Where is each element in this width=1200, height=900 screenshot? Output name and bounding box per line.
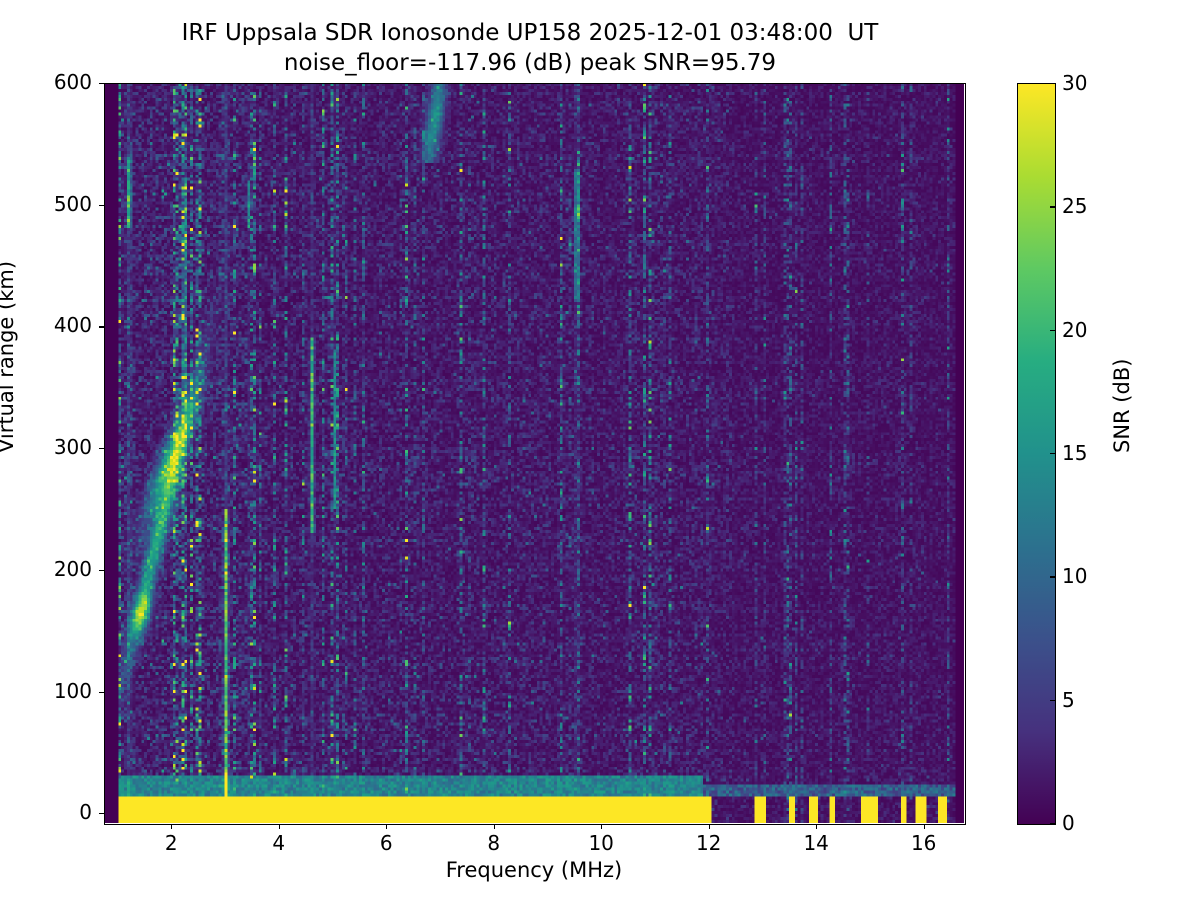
ionogram-heatmap (104, 83, 964, 823)
title-line-1: IRF Uppsala SDR Ionosonde UP158 2025-12-… (0, 18, 1060, 48)
colorbar-tick-label-15: 15 (1062, 441, 1087, 465)
x-tick-12 (709, 824, 710, 829)
ionogram-figure: IRF Uppsala SDR Ionosonde UP158 2025-12-… (0, 0, 1200, 900)
x-tick-2 (171, 824, 172, 829)
y-axis-label: Virtual range (km) (0, 261, 18, 453)
y-tick-label-100: 100 (54, 679, 92, 703)
colorbar-tick-25 (1050, 206, 1055, 207)
y-tick-0 (99, 813, 104, 814)
x-tick-label-16: 16 (911, 831, 936, 855)
ionogram-axes[interactable] (104, 83, 964, 823)
x-tick-label-14: 14 (803, 831, 828, 855)
y-tick-400 (99, 326, 104, 327)
x-tick-4 (279, 824, 280, 829)
y-tick-100 (99, 692, 104, 693)
colorbar-tick-15 (1050, 453, 1055, 454)
x-tick-16 (924, 824, 925, 829)
x-tick-10 (601, 824, 602, 829)
heatmap-canvas (104, 83, 964, 823)
colorbar-label: SNR (dB) (1110, 359, 1134, 453)
colorbar-tick-5 (1050, 700, 1055, 701)
y-tick-label-300: 300 (54, 435, 92, 459)
y-tick-label-600: 600 (54, 70, 92, 94)
x-tick-label-2: 2 (165, 831, 178, 855)
colorbar-tick-label-0: 0 (1062, 811, 1075, 835)
x-tick-label-10: 10 (588, 831, 613, 855)
colorbar-tick-label-25: 25 (1062, 194, 1087, 218)
figure-title: IRF Uppsala SDR Ionosonde UP158 2025-12-… (0, 18, 1060, 79)
x-tick-6 (386, 824, 387, 829)
colorbar-tick-label-5: 5 (1062, 688, 1075, 712)
y-tick-300 (99, 448, 104, 449)
x-tick-label-4: 4 (272, 831, 285, 855)
x-tick-label-12: 12 (696, 831, 721, 855)
x-tick-14 (816, 824, 817, 829)
y-tick-label-500: 500 (54, 192, 92, 216)
colorbar-tick-30 (1050, 83, 1055, 84)
colorbar-tick-label-10: 10 (1062, 564, 1087, 588)
title-line-2: noise_floor=-117.96 (dB) peak SNR=95.79 (0, 48, 1060, 78)
y-tick-label-400: 400 (54, 313, 92, 337)
x-tick-label-6: 6 (380, 831, 393, 855)
x-tick-8 (494, 824, 495, 829)
x-tick-label-8: 8 (487, 831, 500, 855)
y-tick-label-0: 0 (79, 800, 92, 824)
y-tick-500 (99, 205, 104, 206)
colorbar-tick-20 (1050, 330, 1055, 331)
colorbar-tick-label-20: 20 (1062, 318, 1087, 342)
x-axis-label: Frequency (MHz) (104, 858, 964, 882)
y-tick-label-200: 200 (54, 557, 92, 581)
colorbar-tick-0 (1050, 823, 1055, 824)
colorbar-tick-label-30: 30 (1062, 71, 1087, 95)
colorbar-tick-10 (1050, 576, 1055, 577)
y-tick-200 (99, 570, 104, 571)
y-tick-600 (99, 83, 104, 84)
